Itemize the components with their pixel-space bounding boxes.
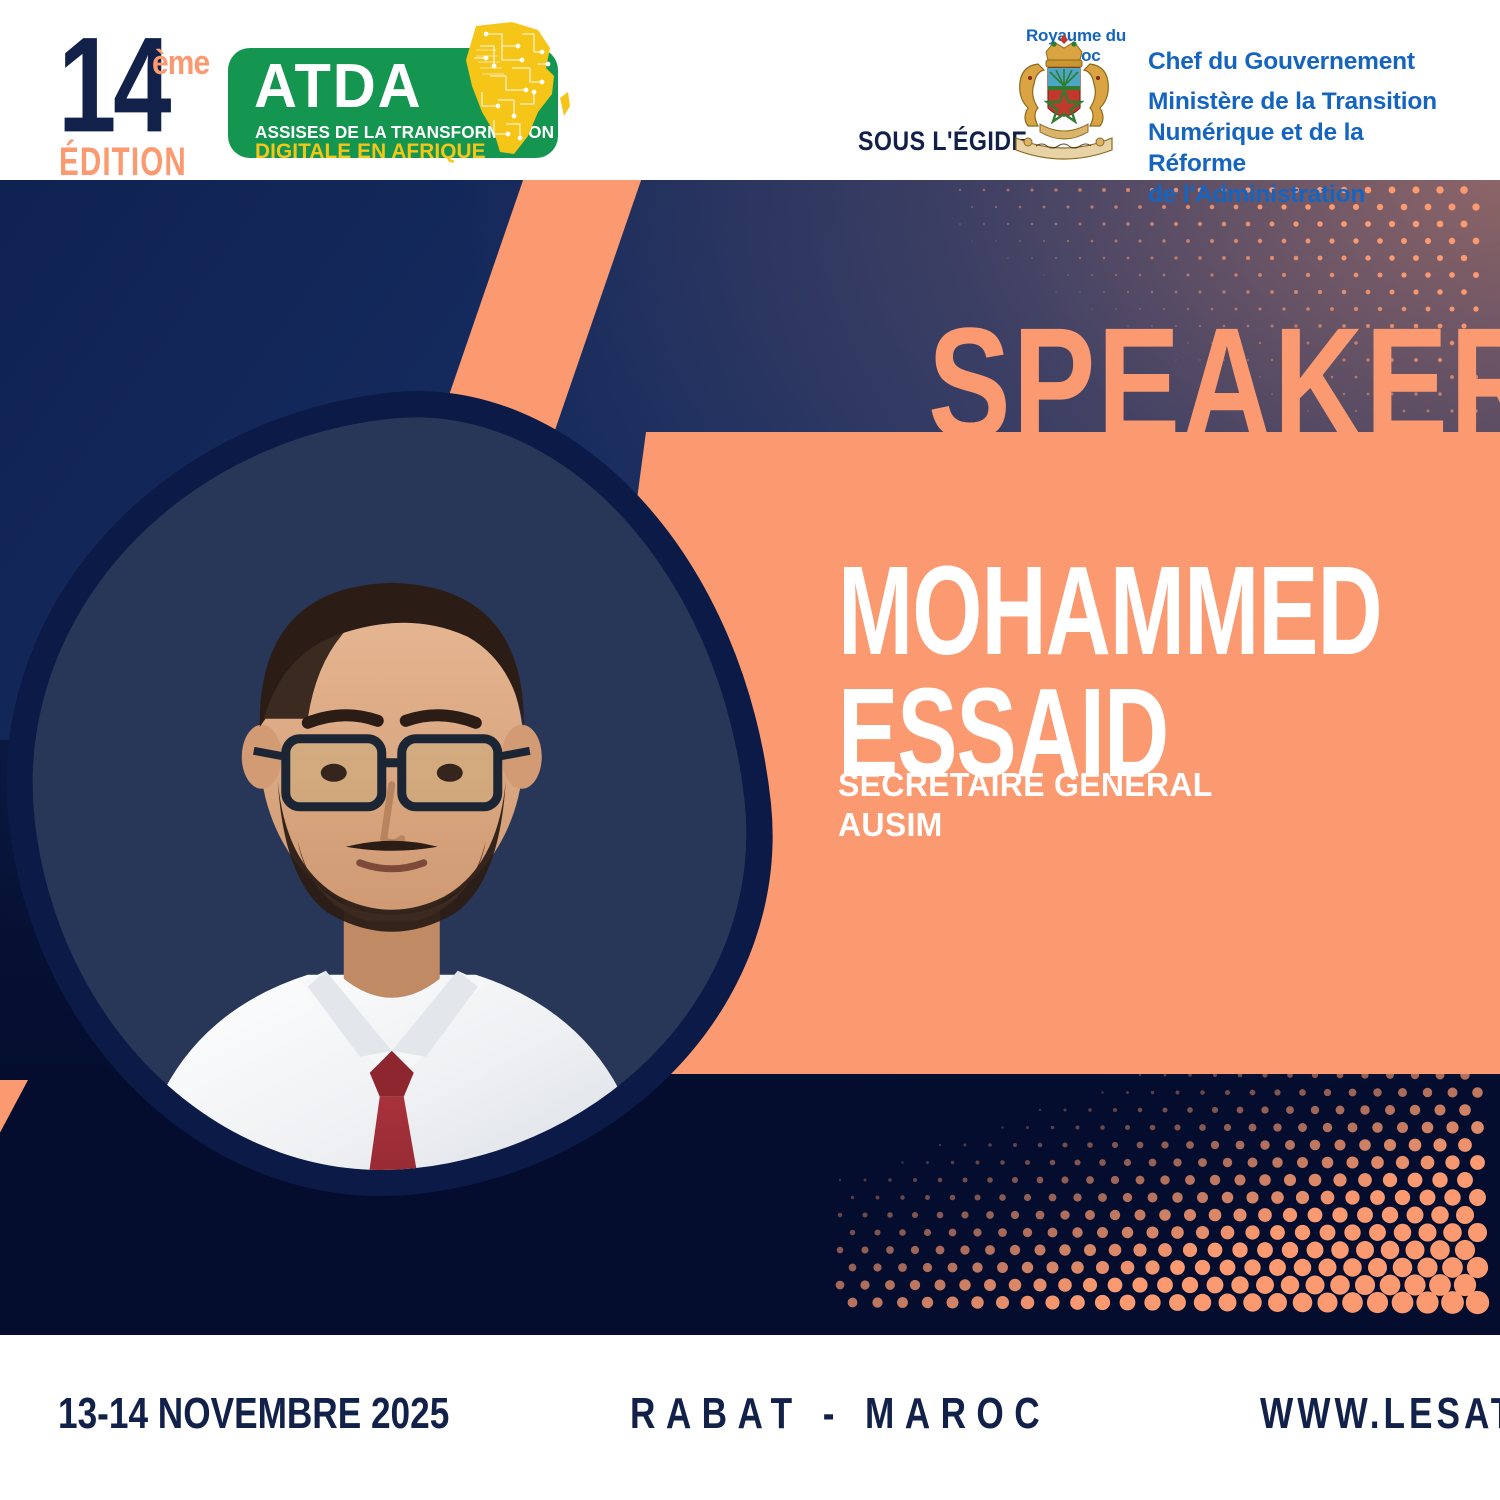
speaker-photo-frame — [8, 395, 768, 1195]
morocco-coat-of-arms-icon — [1002, 26, 1126, 166]
speaker-badge: SPEAKER — [928, 305, 1500, 464]
speaker-role-block: SECRÉTAIRE GÉNÉRAL AUSIM — [838, 765, 1224, 845]
speaker-portrait — [112, 451, 672, 1204]
ministry-line-1: Chef du Gouvernement — [1148, 46, 1468, 77]
ministry-line-4: de l'Administration — [1148, 179, 1468, 210]
event-website[interactable]: WWW.LESATDA.COM — [1260, 1389, 1500, 1439]
speaker-name-block: MOHAMMED ESSAID — [838, 555, 1404, 761]
ministry-text: Chef du Gouvernement Ministère de la Tra… — [1148, 46, 1468, 210]
ministry-line-2: Ministère de la Transition — [1148, 86, 1468, 117]
atda-logo: ATDA ASSISES DE LA TRANSFORMATION DIGITA… — [228, 48, 558, 158]
poster-header: 14 ème ÉDITION ATDA ASSISES DE LA TRANSF… — [0, 0, 1500, 180]
photo-frame-fill — [0, 386, 779, 1204]
poster-artwork: SPEAKER MOHAMMED ESSAID SECRÉTAIRE GÉNÉR… — [0, 180, 1500, 1335]
speaker-announcement-poster: 14 ème ÉDITION ATDA ASSISES DE LA TRANSF… — [0, 0, 1500, 1500]
ministry-spacer — [1148, 77, 1468, 86]
edition-lockup: 14 ème ÉDITION — [58, 22, 198, 172]
speaker-role: SECRÉTAIRE GÉNÉRAL — [838, 765, 1213, 805]
edition-number: 14 — [58, 18, 168, 154]
speaker-first-name: MOHAMMED — [838, 555, 1382, 668]
edition-ordinal: ème — [152, 44, 209, 83]
poster-footer: 13-14 NOVEMBRE 2025 RABAT - MAROC WWW.LE… — [0, 1335, 1500, 1500]
event-dates: 13-14 NOVEMBRE 2025 — [58, 1389, 449, 1439]
ministry-line-3: Numérique et de la Réforme — [1148, 117, 1468, 179]
speaker-organization: AUSIM — [838, 805, 1213, 845]
event-location: RABAT - MAROC — [630, 1389, 1050, 1439]
atda-acronym: ATDA — [254, 56, 423, 118]
africa-circuit-icon — [442, 20, 578, 160]
edition-label: ÉDITION — [59, 140, 187, 185]
